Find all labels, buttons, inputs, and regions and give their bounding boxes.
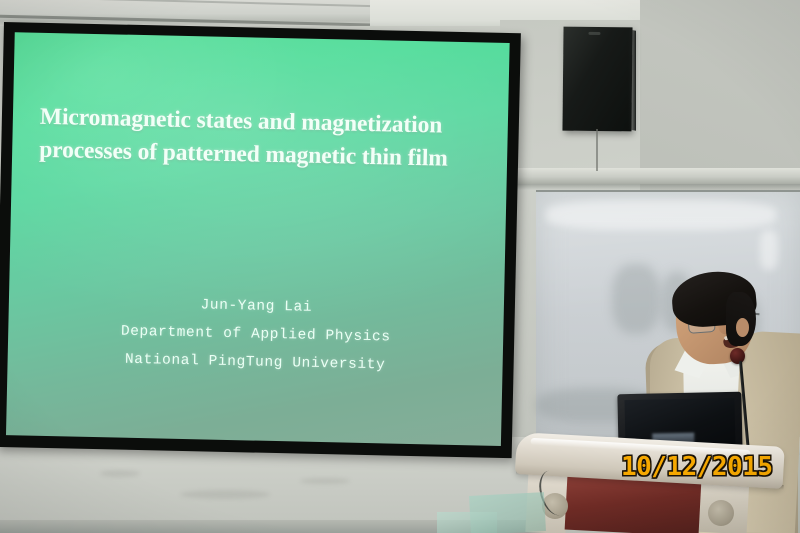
speaker-side-panel (628, 29, 636, 130)
microphone-icon (730, 348, 745, 364)
projection-screen: Micromagnetic states and magnetization p… (0, 22, 521, 458)
slide-surface: Micromagnetic states and magnetization p… (6, 32, 510, 446)
speaker-cable (596, 129, 598, 171)
side-desk-glass (437, 512, 497, 533)
upper-right-wall (640, 0, 800, 190)
speaker-logo-icon (588, 32, 600, 35)
speaker-icon (562, 27, 632, 132)
podium-speaker-grille-icon (708, 500, 734, 526)
wall-smudge (300, 478, 350, 484)
presenter-ear (736, 318, 749, 337)
wall-smudge (180, 490, 270, 499)
slide-title: Micromagnetic states and magnetization p… (39, 101, 496, 177)
wall-ledge (500, 168, 800, 184)
wall-smudge (100, 470, 140, 477)
whiteboard-reflection (546, 200, 776, 230)
lecture-photo-scene: Micromagnetic states and magnetization p… (0, 0, 800, 533)
camera-date-stamp: 10/12/2015 (621, 452, 773, 482)
slide-author-block: Jun-Yang Lai Department of Applied Physi… (7, 287, 504, 382)
whiteboard-reflection (760, 230, 778, 270)
